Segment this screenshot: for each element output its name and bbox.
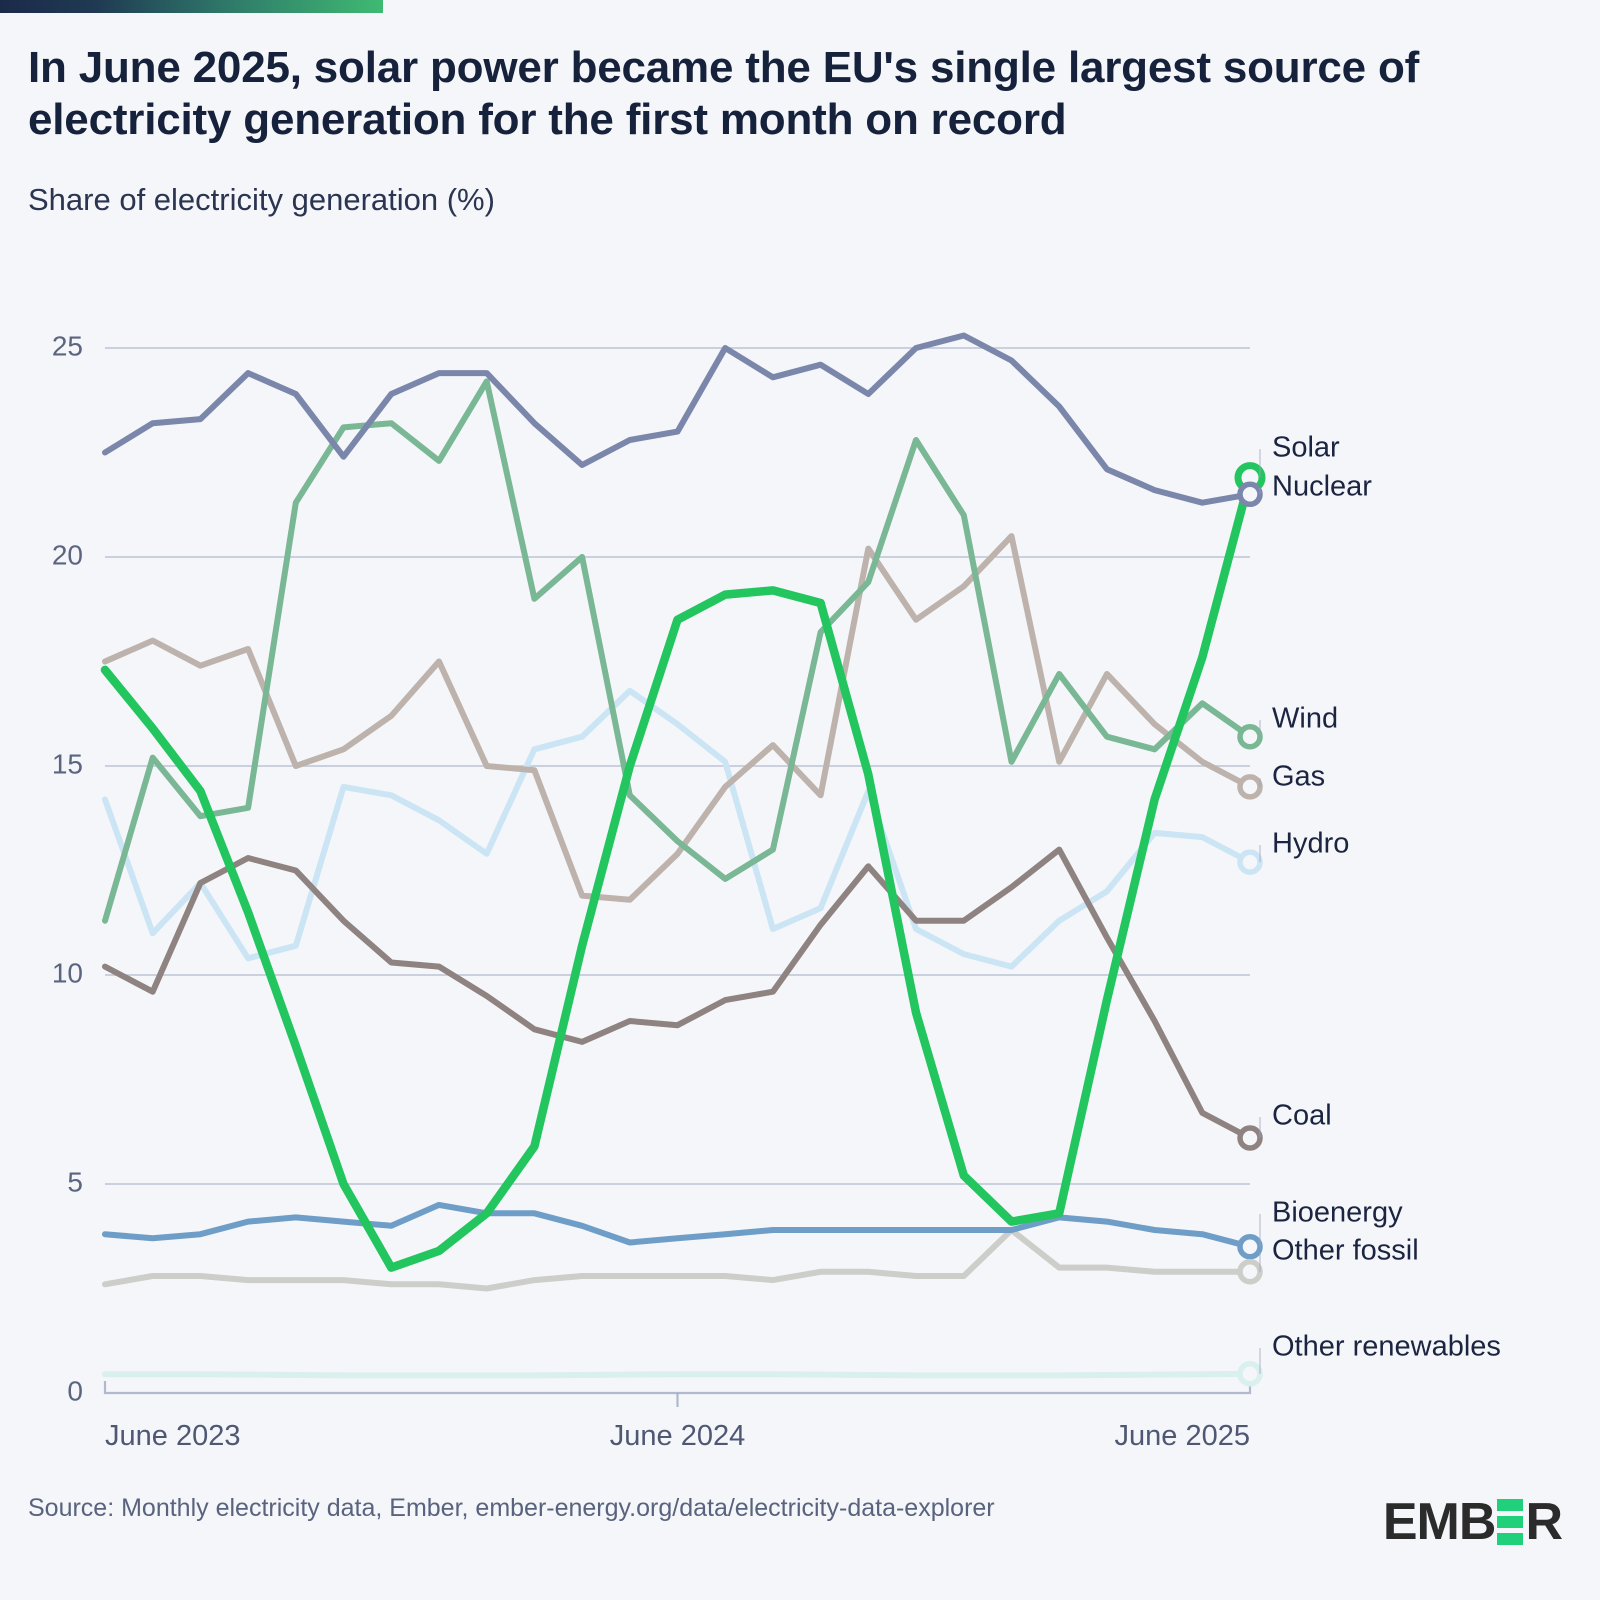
chart-area: 0510152025 June 2023June 2024June 2025 S… — [0, 0, 1600, 1600]
line-chart-svg: 0510152025 June 2023June 2024June 2025 S… — [0, 0, 1600, 1600]
logo-text-right: R — [1525, 1492, 1562, 1552]
y-tick-label: 15 — [52, 748, 83, 779]
series-line-bioenergy — [105, 1205, 1250, 1247]
ember-logo: EMBR — [1383, 1492, 1562, 1552]
series-line-other-renewables — [105, 1374, 1250, 1376]
series-label-gas: Gas — [1272, 761, 1325, 793]
series-endpoint-bioenergy — [1240, 1237, 1260, 1257]
series-label-bioenergy: Bioenergy — [1272, 1197, 1403, 1229]
series-line-nuclear — [105, 336, 1250, 503]
source-note: Source: Monthly electricity data, Ember,… — [28, 1490, 1208, 1526]
series-label-wind: Wind — [1272, 703, 1338, 735]
series-label-other-fossil: Other fossil — [1272, 1235, 1419, 1267]
y-tick-label: 10 — [52, 957, 83, 988]
series-endpoint-nuclear — [1240, 484, 1260, 504]
series-label-solar: Solar — [1272, 432, 1340, 464]
series-line-gas — [105, 536, 1250, 900]
x-axis-line — [105, 1381, 1250, 1393]
x-axis-ticks: June 2023June 2024June 2025 — [105, 1420, 1250, 1452]
series-label-hydro: Hydro — [1272, 828, 1349, 860]
x-tick-label: June 2023 — [105, 1420, 240, 1452]
series-lines — [105, 336, 1250, 1376]
y-tick-label: 20 — [52, 539, 83, 570]
y-tick-label: 0 — [67, 1375, 83, 1406]
series-endpoint-hydro — [1240, 852, 1260, 872]
x-tick-label: June 2024 — [610, 1420, 745, 1452]
series-endpoint-wind — [1240, 727, 1260, 747]
series-endpoint-other-fossil — [1240, 1262, 1260, 1282]
series-label-other-renewables: Other renewables — [1272, 1331, 1501, 1363]
series-endpoint-other-renewables — [1240, 1364, 1260, 1384]
series-endpoint-coal — [1240, 1128, 1260, 1148]
series-endpoints — [1238, 466, 1262, 1384]
x-tick-label: June 2025 — [1115, 1420, 1250, 1452]
series-labels: SolarNuclearWindGasHydroCoalBioenergyOth… — [1272, 432, 1501, 1363]
series-endpoint-gas — [1240, 777, 1260, 797]
y-tick-label: 25 — [52, 330, 83, 361]
series-label-coal: Coal — [1272, 1100, 1332, 1132]
y-tick-label: 5 — [67, 1166, 83, 1197]
logo-bars-icon — [1497, 1499, 1523, 1545]
series-line-solar — [105, 478, 1250, 1268]
y-axis-ticks: 0510152025 — [52, 330, 83, 1406]
series-label-nuclear: Nuclear — [1272, 471, 1372, 503]
series-line-wind — [105, 381, 1250, 920]
logo-text-left: EMB — [1383, 1492, 1496, 1552]
chart-page: In June 2025, solar power became the EU'… — [0, 0, 1600, 1600]
x-axis — [105, 1381, 1250, 1407]
